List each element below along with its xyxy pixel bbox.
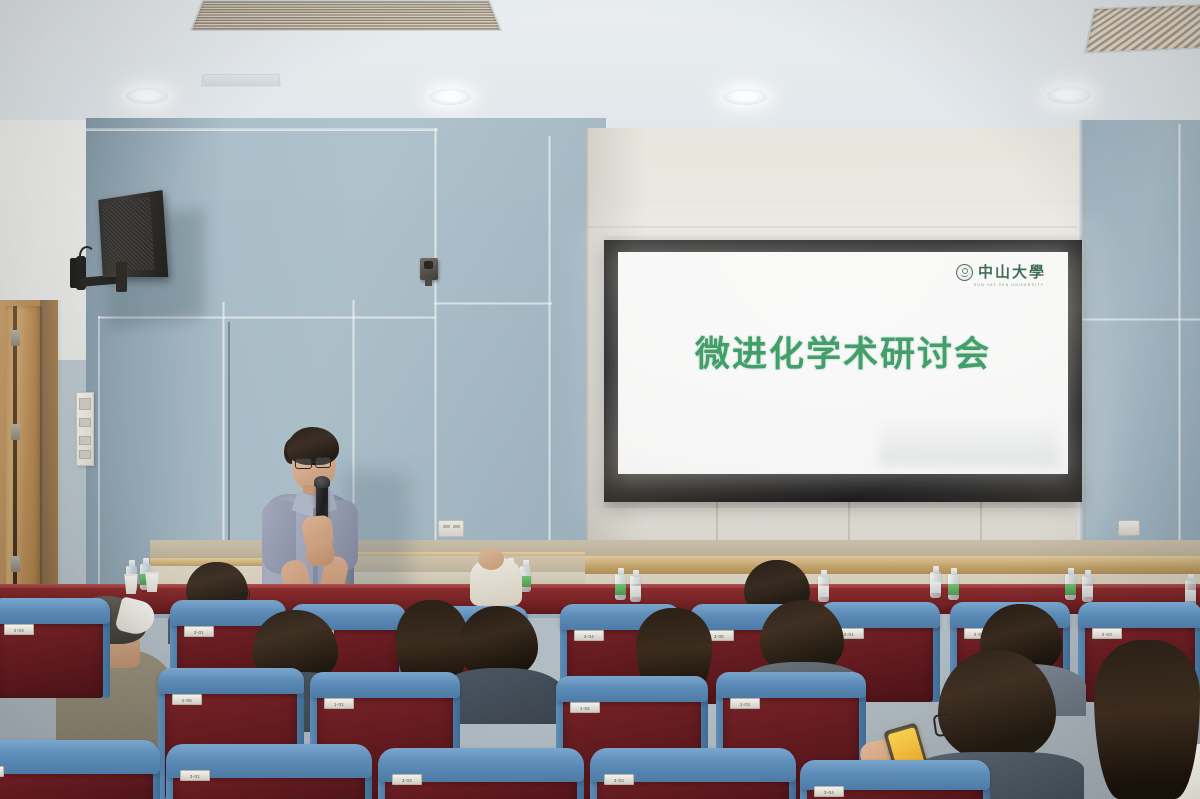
eyeglasses-icon <box>933 713 954 737</box>
door-shadow <box>40 300 62 600</box>
seat-number-plate: 1-04 <box>0 766 4 777</box>
ceiling-downlight-icon <box>126 88 168 104</box>
camera-lens-icon <box>424 261 433 269</box>
seat-rail <box>158 668 304 694</box>
university-logo: 中山大學 SUN YAT-SEN UNIVERSITY <box>956 264 1046 281</box>
wall-panel-seam <box>98 316 100 616</box>
light-switch-button[interactable] <box>79 398 91 410</box>
ceiling-downlight-icon <box>723 89 767 105</box>
power-outlet-icon <box>1118 520 1140 536</box>
seat-number-plate: 3-01 <box>184 626 214 637</box>
audience-hand <box>478 548 504 570</box>
wall-panel-seam <box>1084 128 1086 558</box>
ceiling-downlight-icon <box>429 89 471 105</box>
seat-number-plate: 1-01 <box>324 698 354 709</box>
power-outlet-icon <box>438 520 464 537</box>
projection-screen[interactable]: 中山大學 SUN YAT-SEN UNIVERSITY 微进化学术研讨会 <box>618 252 1068 474</box>
speaker-mount-bracket <box>116 262 127 292</box>
wall-panel-seam <box>434 128 437 598</box>
seat-number-plate: 2-04 <box>4 624 34 635</box>
seat[interactable]: 3-01 <box>166 744 372 799</box>
seat[interactable]: 3-02 <box>378 748 584 799</box>
wall-panel-seam <box>434 302 552 305</box>
eyeglasses-icon <box>315 457 331 468</box>
light-switch-button[interactable] <box>79 436 91 445</box>
seat[interactable]: 3-04 <box>800 760 990 799</box>
seat-rail <box>716 672 866 698</box>
eyeglasses-icon <box>230 590 250 599</box>
seat[interactable]: 2-04 <box>0 598 110 698</box>
seat-number-plate: 3-03 <box>604 774 634 785</box>
outlet-slot <box>453 525 460 528</box>
logo-text-cn: 中山大學 <box>978 265 1046 280</box>
seat-rail <box>0 598 110 624</box>
seat-number-plate: 3-01 <box>180 770 210 781</box>
screen-reflection <box>879 414 1059 466</box>
door-hinge-icon <box>11 556 20 572</box>
wall-panel-seam <box>586 128 588 558</box>
eyeglasses-bridge <box>311 461 316 463</box>
seat-number-plate: 1-03 <box>730 698 760 709</box>
seat-number-plate: 1-02 <box>570 702 600 713</box>
camera-mount <box>425 279 432 286</box>
seat-rail <box>1078 602 1200 628</box>
wooden-door[interactable] <box>6 306 42 598</box>
air-vent-icon <box>190 0 503 31</box>
speaker-cable <box>79 246 95 266</box>
seat-number-plate: 2-03 <box>1092 628 1122 639</box>
audience-head <box>938 650 1056 760</box>
seat-number-plate: 3-02 <box>392 774 422 785</box>
door-hinge-icon <box>11 330 20 346</box>
slide-title: 微进化学术研讨会 <box>618 338 1068 373</box>
speaker-grille <box>102 197 155 271</box>
wall-panel-seam <box>548 136 551 566</box>
air-vent-icon <box>1084 0 1200 54</box>
seat[interactable]: 3-03 <box>590 748 796 799</box>
door-hinge-icon <box>11 424 20 440</box>
wall-panel-seam <box>1078 318 1200 321</box>
eyeglasses-icon <box>295 458 312 469</box>
wall-top-trim <box>86 128 438 131</box>
seat-number-plate: 3-04 <box>574 630 604 641</box>
seat-rail <box>310 672 460 698</box>
microphone-head-icon <box>314 476 330 488</box>
outlet-slot <box>443 525 450 528</box>
audience-head <box>1094 640 1200 799</box>
wall-panel-seam <box>586 226 1086 228</box>
seat-number-plate: 3-04 <box>814 786 844 797</box>
seat-number-plate: 2-05 <box>172 694 202 705</box>
stage-riser-trim <box>585 556 1200 574</box>
presenter-hand <box>306 540 334 566</box>
seminar-hall-photo: 中山大學 SUN YAT-SEN UNIVERSITY 微进化学术研讨会 <box>0 0 1200 799</box>
seat-rail <box>556 676 708 702</box>
university-seal-icon <box>956 264 973 281</box>
light-switch-button[interactable] <box>79 450 91 459</box>
ceiling-downlight-icon <box>1047 87 1091 104</box>
light-switch-button[interactable] <box>79 418 91 427</box>
seat[interactable]: 1-04 <box>0 740 160 799</box>
seat-rail <box>0 740 160 774</box>
ceiling-access-panel <box>201 74 280 86</box>
door-gap <box>13 306 17 598</box>
logo-text-en: SUN YAT-SEN UNIVERSITY <box>974 283 1044 287</box>
